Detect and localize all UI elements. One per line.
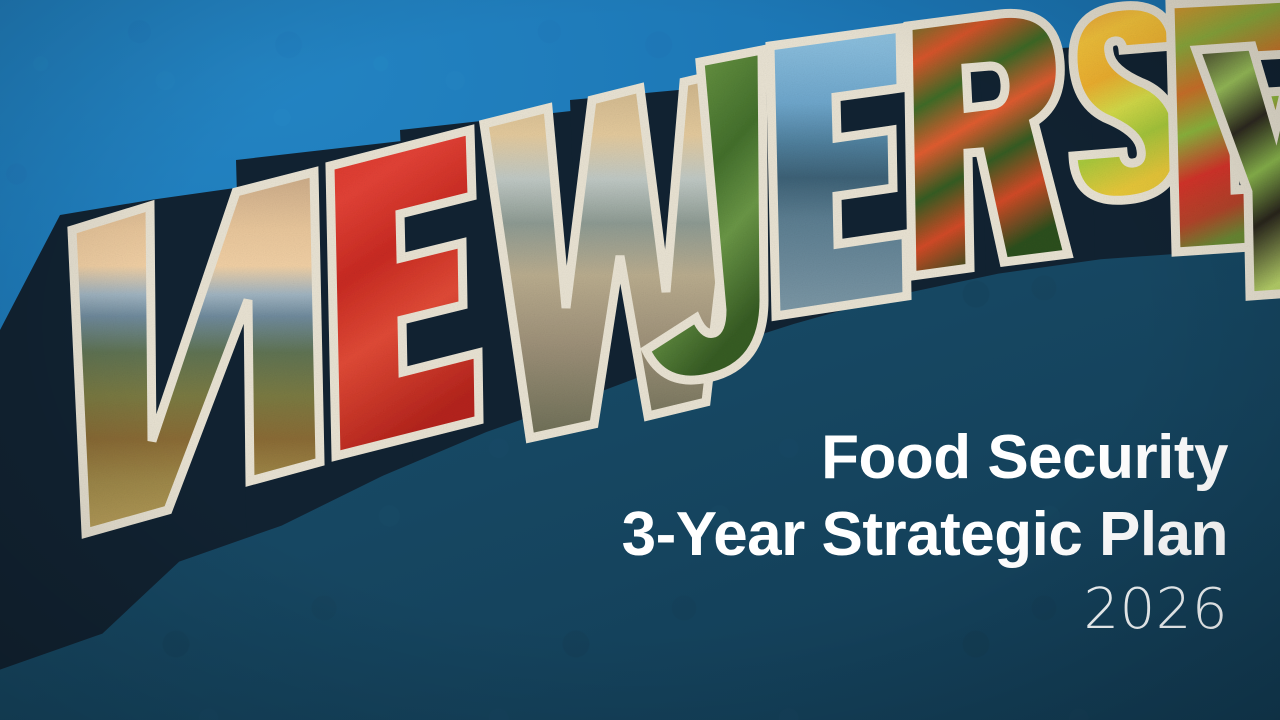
title-line-2: 3-Year Strategic Plan	[528, 505, 1228, 566]
poster-canvas: Food Security 3-Year Strategic Plan 2026	[0, 0, 1280, 720]
title-line-1: Food Security	[528, 428, 1228, 489]
plan-year: 2026	[528, 582, 1228, 638]
title-block: Food Security 3-Year Strategic Plan 2026	[528, 428, 1228, 638]
